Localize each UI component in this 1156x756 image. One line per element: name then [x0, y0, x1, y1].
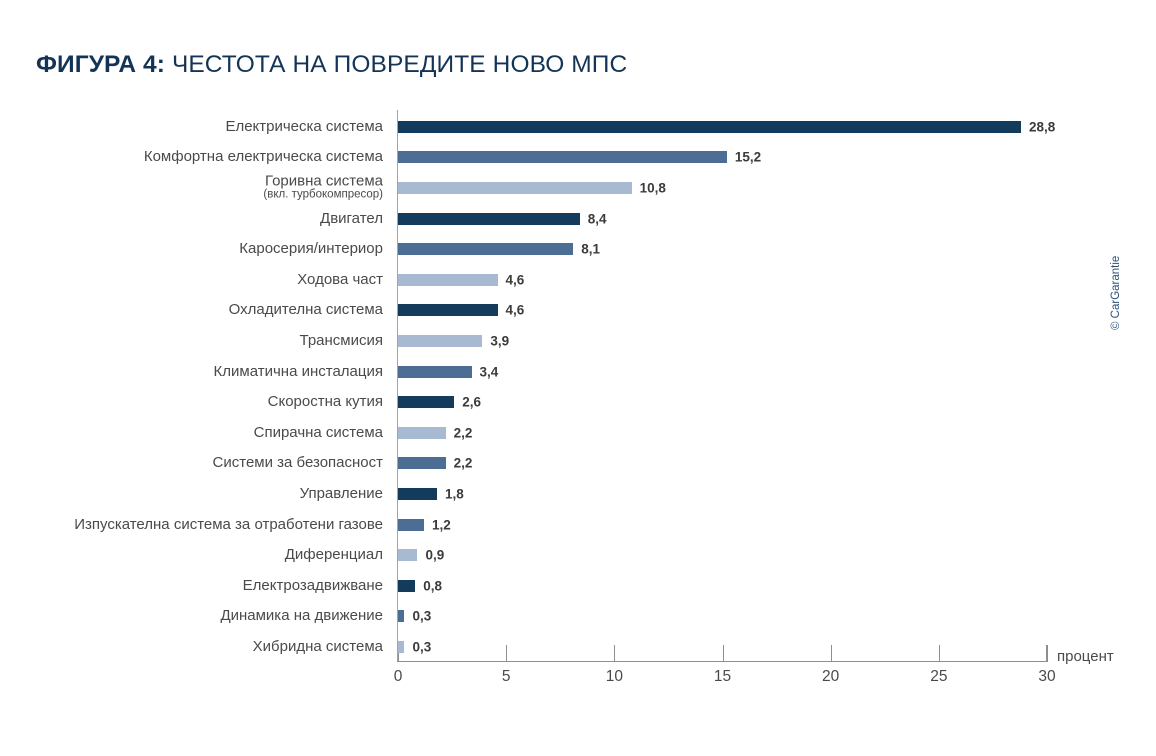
bar-row[interactable]: Диференциал0,9: [0, 540, 1156, 571]
x-axis-tick-label: 30: [1038, 668, 1055, 686]
category-label: Изпускателна система за отработени газов…: [74, 517, 383, 533]
bar[interactable]: [398, 274, 498, 286]
category-label-text: Електрическа система: [225, 118, 383, 135]
bar[interactable]: [398, 335, 482, 347]
category-label: Диференциал: [285, 547, 383, 563]
category-label-text: Комфортна електрическа система: [144, 148, 383, 165]
bar-row[interactable]: Скоростна кутия2,6: [0, 387, 1156, 418]
category-label: Охладителна система: [229, 302, 383, 318]
bar-value-label: 8,4: [588, 211, 607, 226]
bar-value-label: 0,3: [412, 609, 431, 624]
category-label: Климатична инсталация: [214, 364, 383, 380]
bar-row[interactable]: Изпускателна система за отработени газов…: [0, 509, 1156, 540]
category-label-text: Ходова част: [297, 271, 383, 288]
bar-row[interactable]: Климатична инсталация3,4: [0, 356, 1156, 387]
bar[interactable]: [398, 610, 404, 622]
x-axis-tick-label: 5: [502, 668, 511, 686]
category-label: Двигател: [320, 211, 383, 227]
category-label: Хибридна система: [253, 639, 383, 655]
category-label-text: Климатична инсталация: [214, 363, 383, 380]
bar-row[interactable]: Електрозадвижване0,8: [0, 571, 1156, 602]
category-label: Електрическа система: [225, 119, 383, 135]
x-axis-tick-label: 25: [930, 668, 947, 686]
bar-value-label: 28,8: [1029, 119, 1055, 134]
category-label-text: Динамика на движение: [220, 607, 383, 624]
bar-value-label: 3,4: [480, 364, 499, 379]
category-label-text: Охладителна система: [229, 301, 383, 318]
x-axis-tick-label: 0: [394, 668, 403, 686]
bar-row[interactable]: Хибридна система0,3: [0, 632, 1156, 663]
category-label: Горивна система(вкл. турбокомпресор): [263, 174, 383, 203]
bar-row[interactable]: Електрическа система28,8: [0, 112, 1156, 143]
bar[interactable]: [398, 457, 446, 469]
bar-row[interactable]: Охладителна система4,6: [0, 295, 1156, 326]
bar[interactable]: [398, 366, 472, 378]
category-label-text: Системи за безопасност: [213, 454, 383, 471]
bar-value-label: 0,3: [412, 639, 431, 654]
bar-value-label: 2,6: [462, 395, 481, 410]
category-label: Трансмисия: [300, 333, 383, 349]
bar-row[interactable]: Горивна система(вкл. турбокомпресор)10,8: [0, 173, 1156, 204]
category-label: Управление: [300, 486, 383, 502]
category-label-text: Управление: [300, 485, 383, 502]
category-label-text: Диференциал: [285, 546, 383, 563]
bar[interactable]: [398, 121, 1021, 133]
bar[interactable]: [398, 580, 415, 592]
category-label-text: Скоростна кутия: [268, 393, 383, 410]
category-label: Спирачна система: [254, 425, 383, 441]
bar-value-label: 4,6: [506, 303, 525, 318]
category-label: Системи за безопасност: [213, 455, 383, 471]
bar-value-label: 1,2: [432, 517, 451, 532]
bar-value-label: 2,2: [454, 425, 473, 440]
bar-chart: 051015202530 Електрическа система28,8Ком…: [0, 0, 1156, 756]
bar[interactable]: [398, 304, 498, 316]
bar[interactable]: [398, 427, 446, 439]
bar[interactable]: [398, 549, 417, 561]
category-label: Ходова част: [297, 272, 383, 288]
bar-row[interactable]: Управление1,8: [0, 479, 1156, 510]
figure-root: ФИГУРА 4: ЧЕСТОТА НА ПОВРЕДИТЕ НОВО МПС …: [0, 0, 1156, 756]
category-label-text: Електрозадвижване: [243, 577, 383, 594]
bar-value-label: 10,8: [640, 180, 666, 195]
bar-row[interactable]: Каросерия/интериор8,1: [0, 234, 1156, 265]
bar-value-label: 8,1: [581, 242, 600, 257]
category-label-text: Двигател: [320, 210, 383, 227]
bar-value-label: 1,8: [445, 486, 464, 501]
category-label: Динамика на движение: [220, 608, 383, 624]
bar-value-label: 0,9: [425, 548, 444, 563]
bar-value-label: 0,8: [423, 578, 442, 593]
category-label: Комфортна електрическа система: [144, 149, 383, 165]
category-label-text: Спирачна система: [254, 424, 383, 441]
bar[interactable]: [398, 182, 632, 194]
bar[interactable]: [398, 641, 404, 653]
bar-value-label: 3,9: [490, 333, 509, 348]
bar-row[interactable]: Спирачна система2,2: [0, 418, 1156, 449]
bar-row[interactable]: Ходова част4,6: [0, 265, 1156, 296]
category-sublabel-text: (вкл. турбокомпресор): [263, 189, 383, 202]
x-axis-tick-label: 20: [822, 668, 839, 686]
category-label-text: Каросерия/интериор: [239, 240, 383, 257]
bar[interactable]: [398, 213, 580, 225]
bar-row[interactable]: Системи за безопасност2,2: [0, 448, 1156, 479]
category-label-text: Горивна система: [265, 173, 383, 190]
bar-value-label: 15,2: [735, 150, 761, 165]
x-axis-unit-label: процент: [1057, 648, 1114, 665]
category-label-text: Хибридна система: [253, 638, 383, 655]
bar[interactable]: [398, 151, 727, 163]
bar-row[interactable]: Комфортна електрическа система15,2: [0, 142, 1156, 173]
bar[interactable]: [398, 396, 454, 408]
bar[interactable]: [398, 243, 573, 255]
bar-row[interactable]: Двигател8,4: [0, 203, 1156, 234]
category-label: Скоростна кутия: [268, 394, 383, 410]
category-label: Каросерия/интериор: [239, 241, 383, 257]
category-label: Електрозадвижване: [243, 578, 383, 594]
bar-row[interactable]: Трансмисия3,9: [0, 326, 1156, 357]
bar[interactable]: [398, 488, 437, 500]
x-axis-tick-label: 10: [606, 668, 623, 686]
copyright-credit: © CarGarantie: [1110, 256, 1122, 330]
bar-value-label: 2,2: [454, 456, 473, 471]
bar-value-label: 4,6: [506, 272, 525, 287]
category-label-text: Трансмисия: [300, 332, 383, 349]
x-axis-tick-label: 15: [714, 668, 731, 686]
category-label-text: Изпускателна система за отработени газов…: [74, 516, 383, 533]
bar-row[interactable]: Динамика на движение0,3: [0, 601, 1156, 632]
bar[interactable]: [398, 519, 424, 531]
